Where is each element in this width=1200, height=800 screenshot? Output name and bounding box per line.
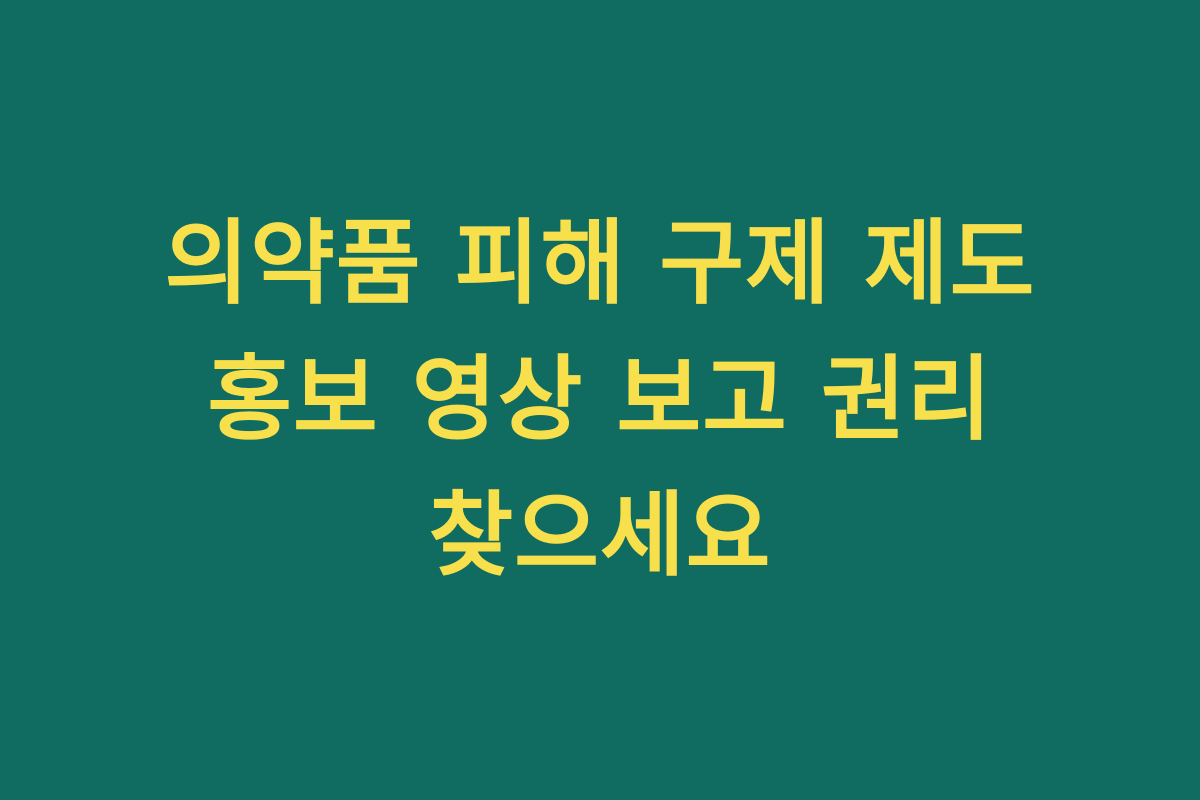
banner-background: 의약품 피해 구제 제도 홍보 영상 보고 권리 찾으세요 [0,0,1200,800]
headline-text: 의약품 피해 구제 제도 홍보 영상 보고 권리 찾으세요 [100,196,1100,604]
